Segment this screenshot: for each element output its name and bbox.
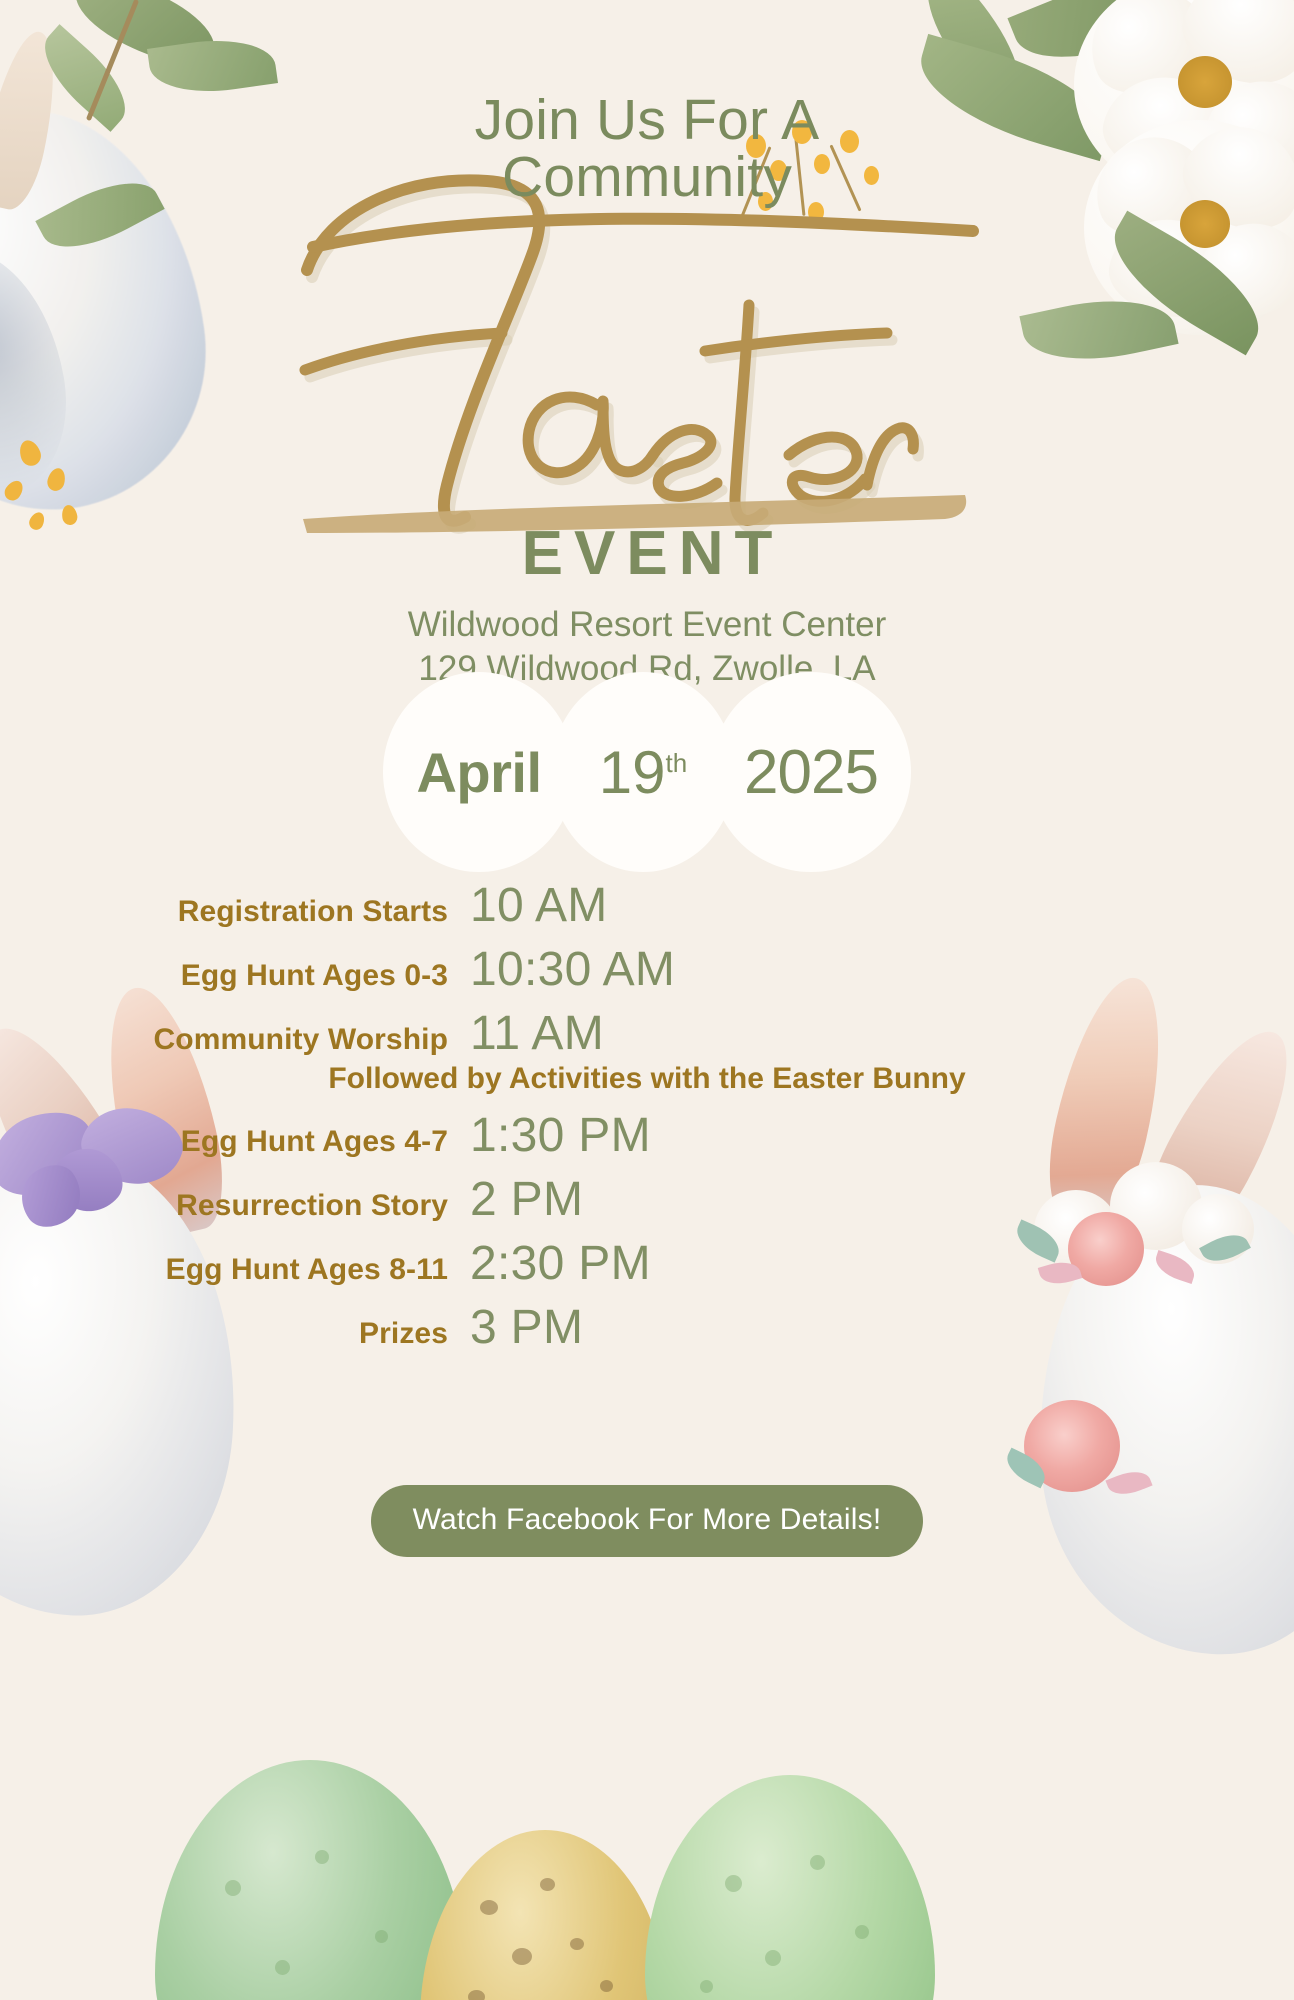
schedule-row: Registration Starts 10 AM bbox=[0, 880, 1294, 932]
date-month-label: April bbox=[416, 740, 541, 805]
schedule-time: 10:30 AM bbox=[470, 944, 675, 996]
schedule-time: 10 AM bbox=[470, 880, 608, 932]
schedule-time: 1:30 PM bbox=[470, 1110, 651, 1162]
date-year-label: 2025 bbox=[744, 737, 878, 808]
schedule-row: Resurrection Story 2 PM bbox=[0, 1174, 1294, 1226]
schedule-row: Egg Hunt Ages 4-7 1:30 PM bbox=[0, 1110, 1294, 1162]
date-day-suffix: th bbox=[666, 748, 688, 778]
schedule-row: Egg Hunt Ages 8-11 2:30 PM bbox=[0, 1238, 1294, 1290]
schedule-label: Egg Hunt Ages 8-11 bbox=[0, 1253, 470, 1287]
watch-facebook-button[interactable]: Watch Facebook For More Details! bbox=[371, 1485, 924, 1557]
event-heading: EVENT bbox=[0, 518, 1294, 589]
schedule-label: Egg Hunt Ages 0-3 bbox=[0, 959, 470, 993]
schedule-time: 2:30 PM bbox=[470, 1238, 651, 1290]
schedule-row: Egg Hunt Ages 0-3 10:30 AM bbox=[0, 944, 1294, 996]
schedule-row: Community Worship 11 AM bbox=[0, 1008, 1294, 1060]
venue-name: Wildwood Resort Event Center bbox=[0, 603, 1294, 647]
schedule-time: 3 PM bbox=[470, 1302, 583, 1354]
easter-script-title bbox=[0, 155, 1294, 555]
schedule-label: Registration Starts bbox=[0, 895, 470, 929]
schedule-row: Prizes 3 PM bbox=[0, 1302, 1294, 1354]
cta-wrapper: Watch Facebook For More Details! bbox=[0, 1485, 1294, 1557]
date-month-circle: April bbox=[383, 672, 575, 872]
schedule-list: Registration Starts 10 AM Egg Hunt Ages … bbox=[0, 880, 1294, 1366]
content-layer: Join Us For A Community bbox=[0, 0, 1294, 2000]
schedule-label: Prizes bbox=[0, 1317, 470, 1351]
easter-script-svg bbox=[297, 155, 997, 555]
date-day-circle: 19th bbox=[551, 672, 735, 872]
schedule-label: Community Worship bbox=[0, 1023, 470, 1057]
date-day-number: 19 bbox=[599, 739, 666, 806]
kicker-heading: Join Us For A Community bbox=[0, 92, 1294, 206]
schedule-time: 2 PM bbox=[470, 1174, 583, 1226]
schedule-label: Resurrection Story bbox=[0, 1189, 470, 1223]
kicker-line-1: Join Us For A bbox=[0, 92, 1294, 149]
schedule-note: Followed by Activities with the Easter B… bbox=[0, 1062, 1294, 1096]
schedule-time: 11 AM bbox=[470, 1008, 604, 1060]
date-year-circle: 2025 bbox=[711, 672, 911, 872]
kicker-line-2: Community bbox=[0, 149, 1294, 206]
date-day-label: 19th bbox=[599, 738, 687, 807]
date-circles: April 19th 2025 bbox=[0, 672, 1294, 872]
easter-event-poster: Join Us For A Community bbox=[0, 0, 1294, 2000]
schedule-label: Egg Hunt Ages 4-7 bbox=[0, 1125, 470, 1159]
